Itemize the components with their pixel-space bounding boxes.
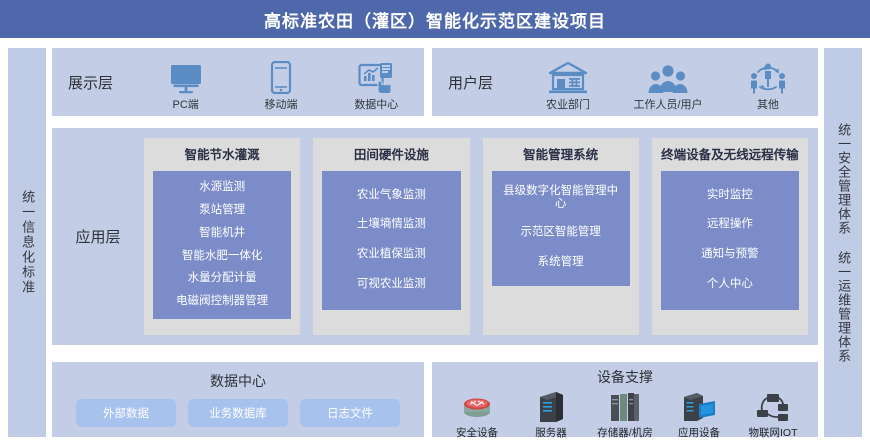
server-monitor-icon xyxy=(681,389,717,423)
app-column-items: 实时监控 远程操作 通知与预警 个人中心 xyxy=(661,171,799,310)
user-layer-panel: 用户层 xyxy=(432,48,818,116)
people-group-icon xyxy=(648,58,688,94)
app-column-title: 智能管理系统 xyxy=(523,148,598,164)
app-item[interactable]: 个人中心 xyxy=(705,270,755,300)
sidebar-left-standards: 统一信息化标准 xyxy=(8,48,46,437)
data-center-chips: 外部数据 业务数据库 日志文件 xyxy=(52,391,424,427)
app-column-smart-irrigation: 智能节水灌溉 水源监测 泵站管理 智能机井 智能水肥一体化 水量分配计量 电磁阀… xyxy=(144,138,300,335)
app-column-field-hardware: 田间硬件设施 农业气象监测 土壤墒情监测 农业植保监测 可视农业监测 xyxy=(313,138,469,335)
display-item-mobile-label: 移动端 xyxy=(264,96,297,112)
app-column-title: 终端设备及无线远程传输 xyxy=(661,148,799,164)
mobile-phone-icon xyxy=(270,58,292,94)
user-layer-icons: 农业部门 工作人员/用户 xyxy=(518,48,818,116)
application-layer-columns: 智能节水灌溉 水源监测 泵站管理 智能机井 智能水肥一体化 水量分配计量 电磁阀… xyxy=(144,138,818,335)
device-item-server[interactable]: 服务器 xyxy=(514,389,588,440)
display-item-mobile[interactable]: 移动端 xyxy=(239,58,323,112)
user-layer-label: 用户层 xyxy=(432,72,518,93)
app-item[interactable]: 农业植保监测 xyxy=(355,240,428,270)
display-layer-label: 展示层 xyxy=(52,72,138,93)
government-building-icon xyxy=(548,58,588,94)
display-layer-icons: PC端 移动端 xyxy=(138,48,424,116)
device-item-server-label: 服务器 xyxy=(535,425,567,440)
device-item-iot[interactable]: 物联网IOT xyxy=(736,389,810,440)
app-column-title: 智能节水灌溉 xyxy=(185,148,260,164)
app-item[interactable]: 电磁阀控制器管理 xyxy=(174,291,270,314)
monitor-icon xyxy=(169,58,203,94)
tablet-chart-touch-icon xyxy=(358,58,394,94)
app-item[interactable]: 实时监控 xyxy=(705,181,755,211)
app-column-items: 农业气象监测 土壤墒情监测 农业植保监测 可视农业监测 xyxy=(322,171,460,310)
display-item-pc-label: PC端 xyxy=(173,96,199,112)
sidebar-left-label: 统一信息化标准 xyxy=(19,190,35,295)
app-column-terminal-wireless: 终端设备及无线远程传输 实时监控 远程操作 通知与预警 个人中心 xyxy=(652,138,808,335)
device-item-security[interactable]: 安全设备 xyxy=(440,389,514,440)
device-item-storage[interactable]: 存储器/机房 xyxy=(588,389,662,440)
app-item[interactable]: 水源监测 xyxy=(197,177,247,200)
device-item-storage-label: 存储器/机房 xyxy=(597,425,652,440)
device-support-panel: 设备支撑 安全设备 xyxy=(432,362,818,437)
device-support-title: 设备支撑 xyxy=(432,362,818,387)
app-item[interactable]: 智能水肥一体化 xyxy=(180,245,265,268)
user-item-agriculture-dept-label: 农业部门 xyxy=(546,96,590,112)
app-column-items: 县级数字化智能管理中心 示范区智能管理 系统管理 xyxy=(492,171,630,286)
app-item[interactable]: 农业气象监测 xyxy=(355,181,428,211)
device-item-application-label: 应用设备 xyxy=(678,425,720,440)
people-cycle-icon xyxy=(749,58,787,94)
app-column-management-system: 智能管理系统 县级数字化智能管理中心 示范区智能管理 系统管理 xyxy=(483,138,639,335)
user-item-other[interactable]: 其他 xyxy=(726,58,810,112)
server-tower-icon xyxy=(536,389,566,423)
app-item[interactable]: 智能机井 xyxy=(197,222,247,245)
app-item[interactable]: 示范区智能管理 xyxy=(518,218,603,248)
display-layer-panel: 展示层 PC端 xyxy=(52,48,424,116)
data-center-title: 数据中心 xyxy=(52,362,424,391)
user-item-other-label: 其他 xyxy=(757,96,779,112)
user-item-staff-label: 工作人员/用户 xyxy=(633,96,702,112)
app-item[interactable]: 县级数字化智能管理中心 xyxy=(496,179,626,219)
app-column-title: 田间硬件设施 xyxy=(354,148,429,164)
user-item-agriculture-dept[interactable]: 农业部门 xyxy=(526,58,610,112)
storage-rack-icon xyxy=(608,389,642,423)
app-item[interactable]: 水量分配计量 xyxy=(186,268,259,291)
user-item-staff[interactable]: 工作人员/用户 xyxy=(626,58,710,112)
app-title-bar: 高标准农田（灌区）智能化示范区建设项目 xyxy=(0,0,870,38)
data-center-chip-external[interactable]: 外部数据 xyxy=(76,399,176,427)
application-layer-panel: 应用层 智能节水灌溉 水源监测 泵站管理 智能机井 智能水肥一体化 水量分配计量… xyxy=(52,128,818,345)
data-center-chip-business-db[interactable]: 业务数据库 xyxy=(188,399,288,427)
data-center-panel: 数据中心 外部数据 业务数据库 日志文件 xyxy=(52,362,424,437)
device-item-security-label: 安全设备 xyxy=(456,425,498,440)
app-item[interactable]: 通知与预警 xyxy=(699,240,761,270)
app-item[interactable]: 泵站管理 xyxy=(197,199,247,222)
data-center-chip-log-file[interactable]: 日志文件 xyxy=(300,399,400,427)
display-item-datacenter-label: 数据中心 xyxy=(354,96,398,112)
device-item-iot-label: 物联网IOT xyxy=(749,425,798,440)
sidebar-right-label: 统一安全管理体系 统一运维管理体系 xyxy=(835,123,851,363)
page-title: 高标准农田（灌区）智能化示范区建设项目 xyxy=(264,7,606,32)
firewall-router-icon xyxy=(459,389,495,423)
app-item[interactable]: 土壤墒情监测 xyxy=(355,210,428,240)
sidebar-right-management: 统一安全管理体系 统一运维管理体系 xyxy=(824,48,862,437)
app-item[interactable]: 远程操作 xyxy=(705,210,755,240)
display-item-pc[interactable]: PC端 xyxy=(144,58,228,112)
iot-network-icon xyxy=(756,389,790,423)
app-item[interactable]: 可视农业监测 xyxy=(355,270,428,300)
device-item-application[interactable]: 应用设备 xyxy=(662,389,736,440)
display-item-datacenter[interactable]: 数据中心 xyxy=(334,58,418,112)
app-column-items: 水源监测 泵站管理 智能机井 智能水肥一体化 水量分配计量 电磁阀控制器管理 xyxy=(153,171,291,320)
app-item[interactable]: 系统管理 xyxy=(536,248,586,278)
application-layer-label: 应用层 xyxy=(52,226,144,247)
device-support-items: 安全设备 服务器 xyxy=(432,387,818,440)
